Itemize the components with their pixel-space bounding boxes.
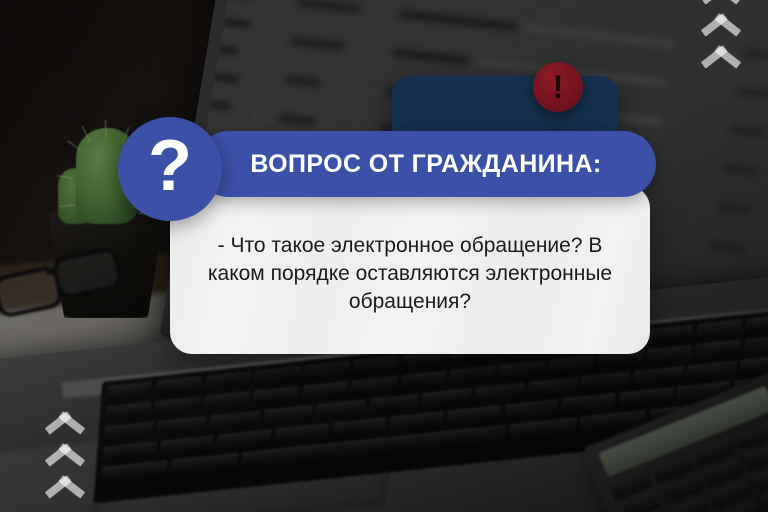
question-mark-badge: ?: [118, 117, 222, 221]
question-mark-icon: ?: [148, 130, 192, 202]
question-overlay: - Что такое электронное обращение? В как…: [0, 0, 768, 512]
title-pill: ВОПРОС ОТ ГРАЖДАНИНА:: [196, 131, 656, 197]
title-pill-label: ВОПРОС ОТ ГРАЖДАНИНА:: [250, 150, 601, 179]
poster-canvas: ! - Что такое электронное обращение? В к…: [0, 0, 768, 512]
question-card: - Что такое электронное обращение? В как…: [170, 186, 650, 354]
question-text: - Что такое электронное обращение? В как…: [170, 224, 650, 316]
